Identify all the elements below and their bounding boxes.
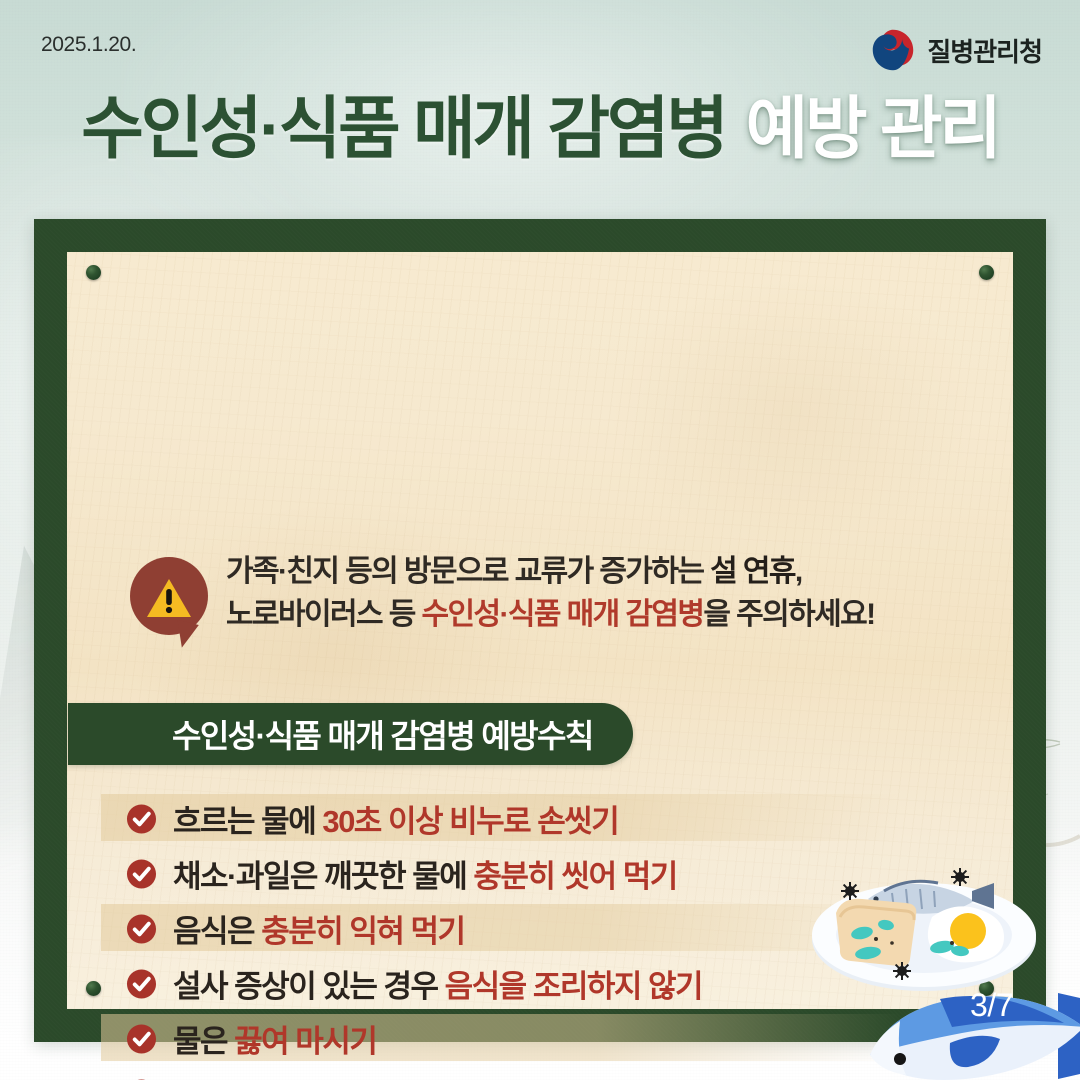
rule-emphasis: 충분히 씻어 먹기 — [473, 859, 676, 894]
publish-date: 2025.1.20. — [41, 33, 136, 57]
rule-emphasis: 30초 이상 비누로 손씻기 — [322, 804, 618, 839]
rule-text: 음식은 충분히 익혀 먹기 — [173, 906, 465, 951]
rule-text: 위생적으로 조리하기 — [173, 1071, 423, 1080]
section-ribbon: 수인성·식품 매개 감염병 예방수칙 — [68, 703, 633, 765]
warning-triangle-icon — [146, 577, 192, 619]
rule-emphasis: 충분히 익혀 먹기 — [261, 914, 464, 949]
screw-dot-bottom-left — [86, 981, 101, 996]
warning-line1-suffix: , — [795, 555, 802, 588]
section-ribbon-title: 수인성·식품 매개 감염병 예방수칙 — [172, 711, 593, 757]
rule-prefix: 설사 증상이 있는 경우 — [173, 969, 445, 1004]
list-item: 흐르는 물에 30초 이상 비누로 손씻기 — [101, 791, 981, 846]
warning-line2-suffix: 을 주의하세요! — [703, 598, 874, 631]
check-circle-icon — [126, 913, 157, 944]
check-circle-icon — [126, 803, 157, 834]
screw-dot-top-right — [979, 265, 994, 280]
page-title-dark-part: 수인성·식품 매개 감염병 — [81, 95, 725, 163]
page-title: 수인성·식품 매개 감염병예방 관리 — [0, 95, 1080, 163]
rule-text: 물은 끓여 마시기 — [173, 1016, 376, 1061]
rule-prefix: 음식은 — [173, 914, 261, 949]
warning-callout-line-2: 노로바이러스 등 수인성·식품 매개 감염병을 주의하세요! — [226, 594, 875, 637]
rule-prefix: 흐르는 물에 — [173, 804, 322, 839]
rule-text: 흐르는 물에 30초 이상 비누로 손씻기 — [173, 796, 618, 841]
rule-prefix: 채소·과일은 깨끗한 물에 — [173, 859, 473, 894]
warning-callout-line-1: 가족·친지 등의 방문으로 교류가 증가하는 설 연휴, — [226, 551, 875, 594]
warning-line2-emphasis: 수인성·식품 매개 감염병 — [421, 598, 703, 631]
screw-dot-top-left — [86, 265, 101, 280]
warning-line1-prefix: 가족·친지 등의 방문으로 교류가 증가하는 — [226, 555, 710, 588]
rule-emphasis: 음식을 조리하지 않기 — [445, 969, 702, 1004]
infographic-poster: 2025.1.20. 질병관리청 수인성·식품 매개 감염병예방 관리 — [0, 0, 1080, 1080]
page-indicator: 3/7 — [970, 987, 1013, 1024]
content-board: 가족·친지 등의 방문으로 교류가 증가하는 설 연휴, 노로바이러스 등 수인… — [34, 219, 1046, 1042]
rule-emphasis: 끓여 마시기 — [234, 1024, 376, 1059]
page-title-light-part: 예방 관리 — [746, 95, 999, 163]
speech-bubble — [130, 557, 208, 635]
check-circle-icon — [126, 968, 157, 999]
blue-fish-icon — [844, 969, 1080, 1080]
warning-line1-emphasis: 설 연휴 — [710, 555, 795, 588]
warning-callout: 가족·친지 등의 방문으로 교류가 증가하는 설 연휴, 노로바이러스 등 수인… — [130, 551, 875, 636]
rule-text: 채소·과일은 깨끗한 물에 충분히 씻어 먹기 — [173, 851, 677, 896]
korea-government-taegeuk-logo-icon — [870, 27, 916, 73]
warning-callout-text: 가족·친지 등의 방문으로 교류가 증가하는 설 연휴, 노로바이러스 등 수인… — [226, 551, 875, 636]
paper-stain — [613, 282, 973, 542]
agency-name: 질병관리청 — [927, 32, 1042, 69]
warning-line2-prefix: 노로바이러스 등 — [226, 598, 421, 631]
rule-prefix: 물은 — [173, 1024, 234, 1059]
rule-text: 설사 증상이 있는 경우 음식을 조리하지 않기 — [173, 961, 702, 1006]
check-circle-icon — [126, 858, 157, 889]
bread-slice — [836, 899, 916, 966]
agency-logo: 질병관리청 — [870, 27, 1042, 73]
check-circle-icon — [126, 1023, 157, 1054]
